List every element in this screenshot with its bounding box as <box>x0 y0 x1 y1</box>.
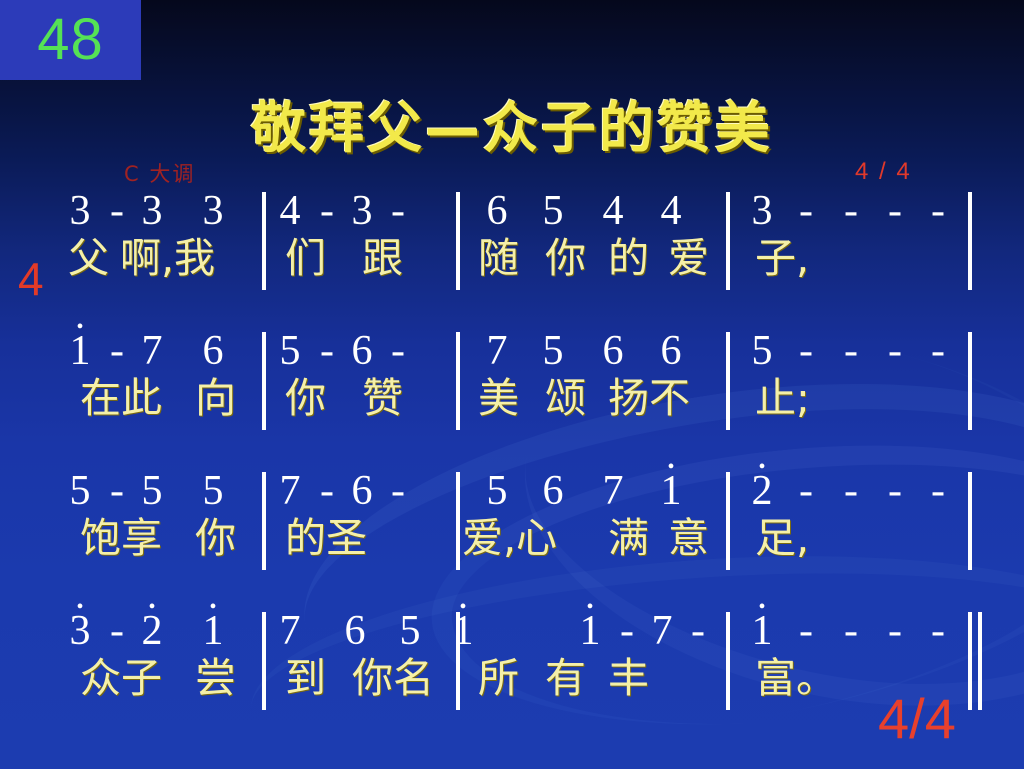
octave-dot-icon: • <box>752 597 773 617</box>
note-number: 3 <box>66 190 94 232</box>
page-number: 48 <box>37 11 104 69</box>
note-sustain-dash: - <box>103 470 131 512</box>
note-sustain-dash: - <box>792 190 820 232</box>
note-number: 1• <box>657 470 685 512</box>
note-number: 1• <box>576 610 604 652</box>
octave-dot-icon: • <box>70 597 91 617</box>
note-sustain-dash: - <box>881 610 909 652</box>
lyric-text: 有 <box>545 658 586 699</box>
note-number: 5 <box>483 470 511 512</box>
lyric-text: 子, <box>755 238 809 279</box>
lyric-text: 你名 <box>352 658 434 699</box>
note-sustain-dash: - <box>837 190 865 232</box>
note-number: 4 <box>657 190 685 232</box>
lyric-text: 爱,心 <box>462 518 557 559</box>
note-number: 2• <box>138 610 166 652</box>
lyric-text: 在此 <box>80 378 162 419</box>
music-system: 3-334-3-65443----父啊,我们跟随你的爱子, <box>0 190 1024 330</box>
lyric-text: 所 <box>478 658 519 699</box>
lyric-text: 颂 <box>545 378 586 419</box>
note-sustain-dash: - <box>881 190 909 232</box>
note-number: 6 <box>539 470 567 512</box>
note-sustain-dash: - <box>384 470 412 512</box>
lyric-text: 止; <box>755 378 810 419</box>
lyric-text: 你 <box>285 378 326 419</box>
note-number: 6 <box>657 330 685 372</box>
octave-dot-icon: • <box>580 597 601 617</box>
note-sustain-dash: - <box>881 330 909 372</box>
lyric-text: 的圣 <box>285 518 367 559</box>
note-sustain-dash: - <box>792 470 820 512</box>
note-sustain-dash: - <box>384 190 412 232</box>
note-number: 6 <box>348 330 376 372</box>
note-sustain-dash: - <box>684 610 712 652</box>
hymn-slide: 48 敬拜父—众子的赞美 C 大调 4 / 4 4 4/4 3-334-3-65… <box>0 0 1024 769</box>
lyric-text: 你 <box>545 238 586 279</box>
note-number: 6 <box>341 610 369 652</box>
lyric-text: 你 <box>195 518 236 559</box>
lyric-text: 跟 <box>362 238 403 279</box>
octave-dot-icon: • <box>70 317 91 337</box>
note-number: 3 <box>138 190 166 232</box>
lyric-text: 意 <box>668 518 709 559</box>
music-system: 1•-765-6-75665----在此向你赞美颂扬不止; <box>0 330 1024 470</box>
note-number: 4 <box>599 190 627 232</box>
lyric-text: 扬不 <box>608 378 690 419</box>
note-number: 6 <box>483 190 511 232</box>
note-sustain-dash: - <box>837 470 865 512</box>
note-sustain-dash: - <box>924 610 952 652</box>
note-sustain-dash: - <box>103 330 131 372</box>
time-signature-top: 4 / 4 <box>855 158 912 186</box>
note-number: 7 <box>483 330 511 372</box>
note-number: 5 <box>539 190 567 232</box>
note-sustain-dash: - <box>837 610 865 652</box>
note-number: 5 <box>748 330 776 372</box>
lyric-text: 的 <box>608 238 649 279</box>
lyric-text: 啊,我 <box>120 238 215 279</box>
note-number: 6 <box>599 330 627 372</box>
note-sustain-dash: - <box>881 470 909 512</box>
octave-dot-icon: • <box>661 457 682 477</box>
octave-dot-icon: • <box>142 597 163 617</box>
page-title: 敬拜父—众子的赞美 <box>0 83 1024 163</box>
lyric-row: 父啊,我们跟随你的爱子, <box>0 238 1024 300</box>
lyric-row: 饱享你的圣爱,心满意足, <box>0 518 1024 580</box>
note-number: 5 <box>66 470 94 512</box>
lyric-text: 向 <box>195 378 236 419</box>
lyric-row: 在此向你赞美颂扬不止; <box>0 378 1024 440</box>
note-number: 4 <box>276 190 304 232</box>
lyric-text: 饱享 <box>80 518 162 559</box>
octave-dot-icon: • <box>752 457 773 477</box>
lyric-text: 们 <box>285 238 326 279</box>
octave-dot-icon: • <box>203 597 224 617</box>
octave-dot-icon: • <box>453 597 474 617</box>
lyric-text: 美 <box>478 378 519 419</box>
note-sustain-dash: - <box>313 470 341 512</box>
note-sustain-dash: - <box>837 330 865 372</box>
note-number: 5 <box>396 610 424 652</box>
note-sustain-dash: - <box>613 610 641 652</box>
note-sustain-dash: - <box>313 190 341 232</box>
note-number: 3 <box>199 190 227 232</box>
note-number: 5 <box>539 330 567 372</box>
lyric-text: 满 <box>608 518 649 559</box>
note-number: 7 <box>599 470 627 512</box>
lyric-text: 爱 <box>668 238 709 279</box>
music-system: 3•-2•1•7651•1•-7-1•----众子尝到你名所有丰富。 <box>0 610 1024 750</box>
note-sustain-dash: - <box>313 330 341 372</box>
note-number: 7 <box>138 330 166 372</box>
note-sustain-dash: - <box>103 610 131 652</box>
note-number: 3 <box>348 190 376 232</box>
lyric-text: 尝 <box>195 658 236 699</box>
note-number: 1• <box>66 330 94 372</box>
music-system: 5-557-6-5671•2•----饱享你的圣爱,心满意足, <box>0 470 1024 610</box>
lyric-row: 众子尝到你名所有丰富。 <box>0 658 1024 720</box>
note-number: 1• <box>449 610 477 652</box>
note-sustain-dash: - <box>924 330 952 372</box>
lyric-text: 父 <box>68 238 109 279</box>
lyric-text: 富。 <box>755 658 837 699</box>
lyric-text: 到 <box>285 658 326 699</box>
note-sustain-dash: - <box>924 470 952 512</box>
note-sustain-dash: - <box>103 190 131 232</box>
note-number: 1• <box>199 610 227 652</box>
note-number: 7 <box>276 470 304 512</box>
lyric-text: 赞 <box>362 378 403 419</box>
note-number: 3• <box>66 610 94 652</box>
lyric-text: 丰 <box>608 658 649 699</box>
note-number: 5 <box>199 470 227 512</box>
note-number: 6 <box>348 470 376 512</box>
lyric-text: 众子 <box>80 658 162 699</box>
note-number: 1• <box>748 610 776 652</box>
page-number-badge: 48 <box>0 0 141 80</box>
note-number: 6 <box>199 330 227 372</box>
note-number: 7 <box>648 610 676 652</box>
lyric-text: 随 <box>478 238 519 279</box>
note-number: 2• <box>748 470 776 512</box>
note-number: 3 <box>748 190 776 232</box>
key-signature-label: C 大调 <box>124 158 195 188</box>
note-sustain-dash: - <box>792 330 820 372</box>
lyric-text: 足, <box>755 518 809 559</box>
note-sustain-dash: - <box>792 610 820 652</box>
music-staff: 3-334-3-65443----父啊,我们跟随你的爱子,1•-765-6-75… <box>0 190 1024 750</box>
note-number: 5 <box>138 470 166 512</box>
note-sustain-dash: - <box>924 190 952 232</box>
note-sustain-dash: - <box>384 330 412 372</box>
note-number: 5 <box>276 330 304 372</box>
note-number: 7 <box>276 610 304 652</box>
